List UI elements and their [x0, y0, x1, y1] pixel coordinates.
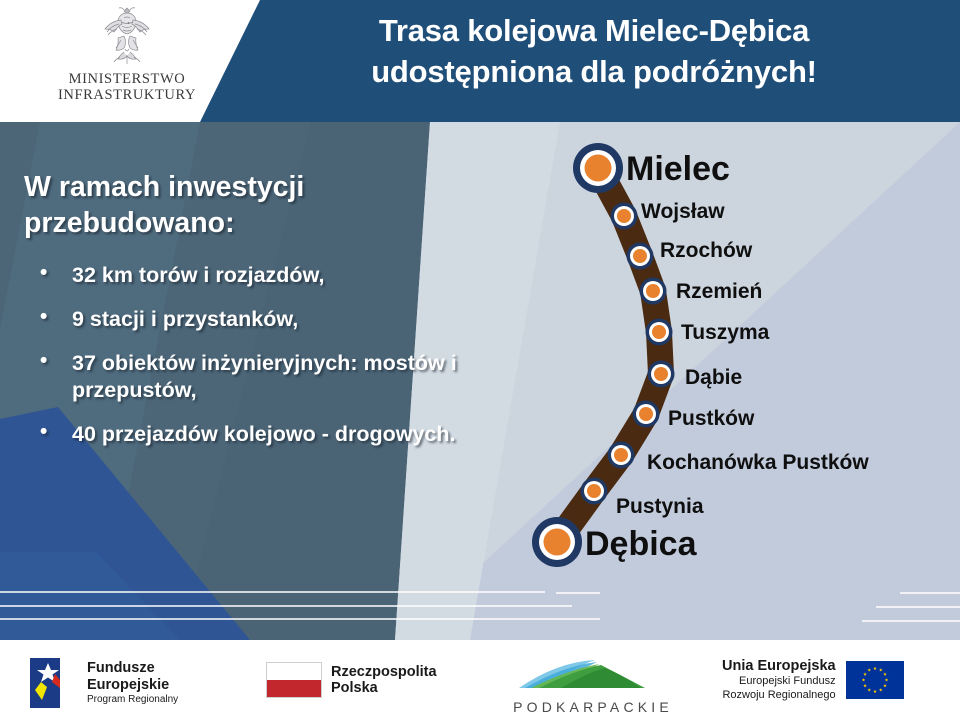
polish-eagle-emblem-icon	[91, 4, 163, 70]
fundusze-europejskie-icon	[30, 658, 78, 708]
logo-line-3: Rozwoju Regionalnego	[722, 689, 836, 702]
footer-logos: Fundusze Europejskie Program Regionalny …	[0, 640, 960, 720]
podkarpackie-hills-icon	[505, 658, 681, 692]
decorative-stripes	[0, 122, 960, 640]
logo-line-1: Fundusze	[87, 660, 178, 676]
logo-podkarpackie: PODKARPACKIE	[505, 658, 681, 715]
infographic-slide: MINISTERSTWO INFRASTRUKTURY Trasa kolejo…	[0, 0, 960, 720]
flag-red-stripe	[267, 680, 321, 697]
poland-flag-icon	[266, 662, 322, 698]
logo-unia-text: Unia Europejska Europejski Fundusz Rozwo…	[722, 658, 836, 703]
ministry-name: MINISTERSTWO INFRASTRUKTURY	[22, 71, 232, 103]
ministry-line-2: INFRASTRUKTURY	[22, 87, 232, 103]
logo-line-3: Program Regionalny	[87, 694, 178, 706]
logo-line-2: Europejski Fundusz	[722, 675, 836, 688]
logo-rzeczpospolita-polska: Rzeczpospolita Polska	[266, 662, 437, 698]
header: MINISTERSTWO INFRASTRUKTURY Trasa kolejo…	[0, 0, 960, 122]
title-line-2: udostępniona dla podróżnych!	[236, 52, 952, 93]
logo-line-1: Rzeczpospolita	[331, 664, 437, 680]
logo-line-2: Polska	[331, 680, 437, 696]
logo-fundusze-europejskie: Fundusze Europejskie Program Regionalny	[30, 658, 178, 708]
eu-flag-icon	[846, 661, 904, 699]
title-line-1: Trasa kolejowa Mielec-Dębica	[236, 11, 952, 52]
flag-white-stripe	[267, 663, 321, 680]
logo-fundusze-text: Fundusze Europejskie Program Regionalny	[87, 660, 178, 705]
logo-unia-europejska: Unia Europejska Europejski Fundusz Rozwo…	[722, 658, 904, 703]
logo-line-2: Europejskie	[87, 677, 178, 693]
content-area: W ramach inwestycji przebudowano: 32 km …	[0, 122, 960, 640]
logo-podkarpackie-text: PODKARPACKIE	[505, 699, 681, 715]
ministry-logo: MINISTERSTWO INFRASTRUKTURY	[22, 4, 232, 118]
ministry-line-1: MINISTERSTWO	[22, 71, 232, 87]
page-title: Trasa kolejowa Mielec-Dębica udostępnion…	[236, 11, 952, 93]
logo-rzeczpospolita-text: Rzeczpospolita Polska	[331, 664, 437, 696]
logo-line-1: Unia Europejska	[722, 658, 836, 674]
